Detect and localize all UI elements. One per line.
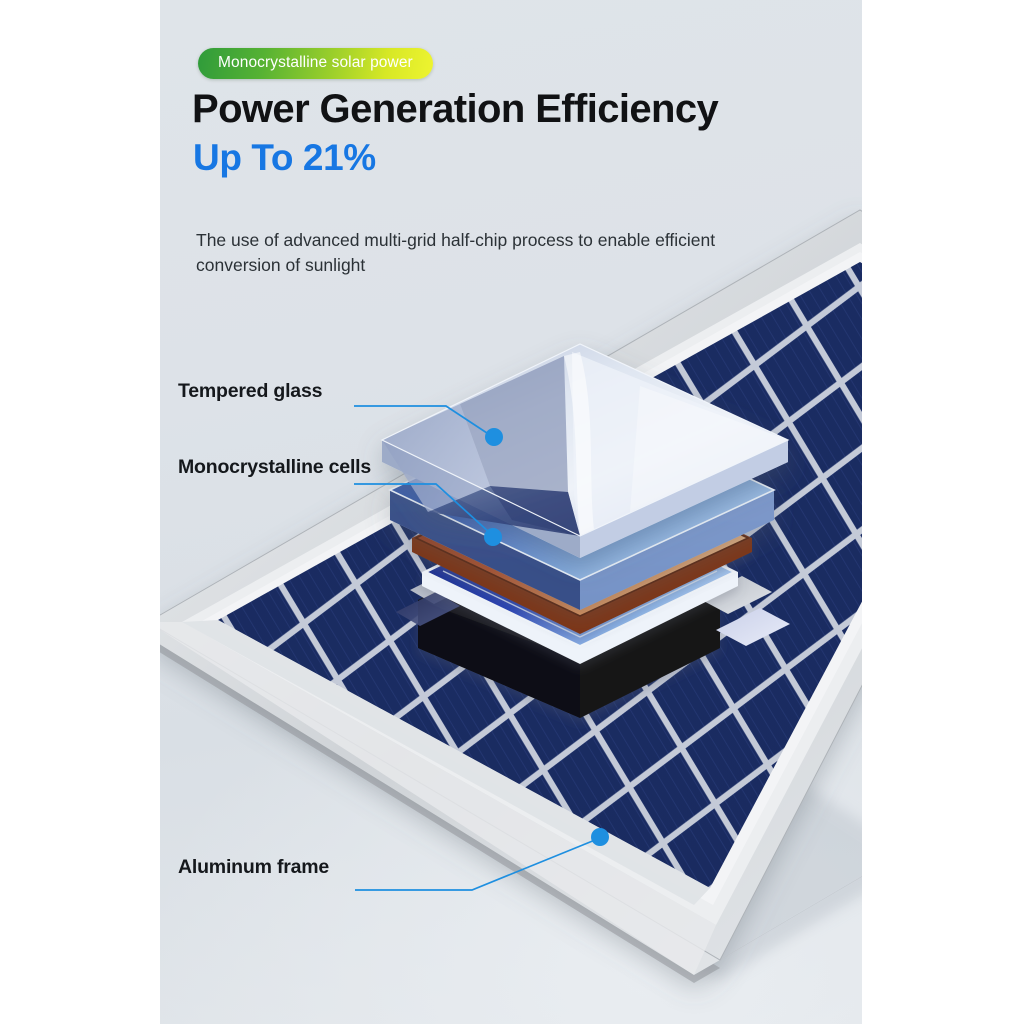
page-title: Power Generation Efficiency <box>192 88 852 131</box>
product-badge: Monocrystalline solar power <box>198 48 433 79</box>
callout-label-tempered-glass: Tempered glass <box>178 380 322 403</box>
dot-monocrystalline-cells <box>484 528 502 546</box>
page-subtitle-highlight: Up To 21% <box>193 138 376 179</box>
dot-tempered-glass <box>485 428 503 446</box>
content-panel: Monocrystalline solar power Power Genera… <box>160 0 862 1024</box>
callout-label-aluminum-frame: Aluminum frame <box>178 856 329 879</box>
callout-label-monocrystalline-cells: Monocrystalline cells <box>178 456 371 479</box>
infographic-canvas: Monocrystalline solar power Power Genera… <box>0 0 1024 1024</box>
dot-aluminum-frame <box>591 828 609 846</box>
description-text: The use of advanced multi-grid half-chip… <box>196 228 756 279</box>
